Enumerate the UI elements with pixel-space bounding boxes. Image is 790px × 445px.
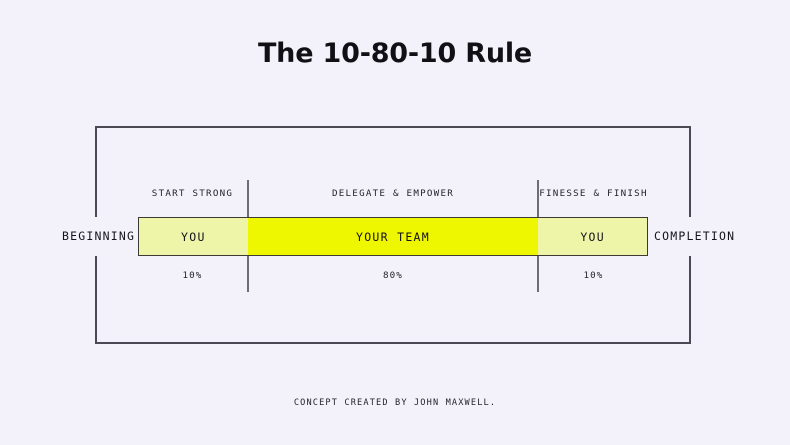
bar-segment-finesse-finish[interactable]: YOU: [538, 218, 647, 255]
percent-label-start-strong: 10%: [138, 270, 247, 281]
phase-label-finesse-finish: FINESSE & FINISH: [539, 188, 648, 199]
infographic-canvas: The 10-80-10 Rule START STRONG DELEGATE …: [0, 0, 790, 445]
frame-top-edge: [95, 126, 691, 128]
phase-label-start-strong: START STRONG: [138, 188, 247, 199]
percent-label-delegate-empower: 80%: [249, 270, 537, 281]
credit-caption: CONCEPT CREATED BY JOHN MAXWELL.: [0, 398, 790, 408]
phase-label-delegate-empower: DELEGATE & EMPOWER: [249, 188, 537, 199]
frame-bottom-edge: [95, 342, 691, 344]
frame-right-edge-lower: [689, 256, 691, 344]
frame-left-edge-lower: [95, 256, 97, 344]
ten-eighty-ten-bar: YOU YOUR TEAM YOU: [138, 217, 648, 256]
endpoint-label-completion: COMPLETION: [654, 229, 735, 243]
endpoint-label-beginning: BEGINNING: [62, 229, 135, 243]
page-title: The 10-80-10 Rule: [0, 38, 790, 69]
percent-label-finesse-finish: 10%: [539, 270, 648, 281]
bar-segment-start-strong[interactable]: YOU: [139, 218, 248, 255]
frame-right-edge-upper: [689, 126, 691, 217]
bar-segment-delegate-empower[interactable]: YOUR TEAM: [248, 218, 539, 255]
frame-left-edge-upper: [95, 126, 97, 217]
